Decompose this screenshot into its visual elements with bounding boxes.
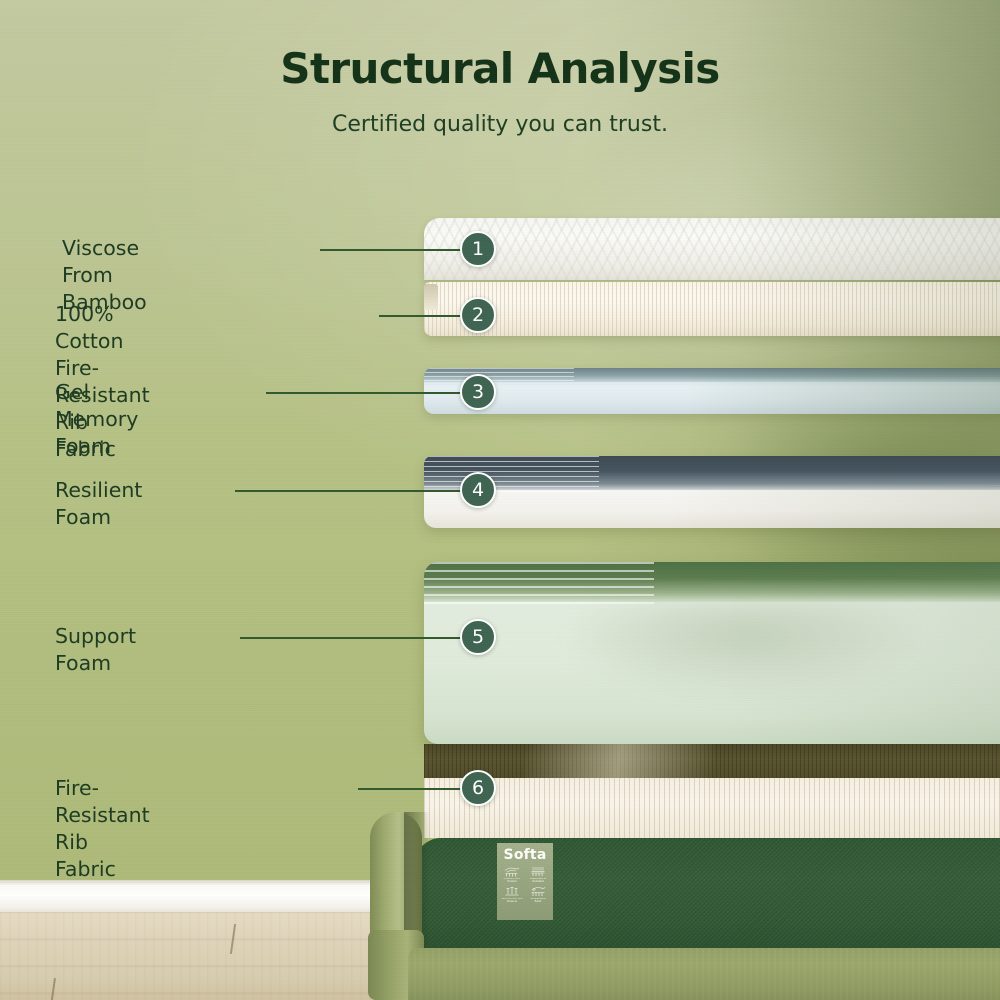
callout-label: Resilient Foam — [55, 477, 142, 531]
callout-leader-line — [235, 490, 467, 492]
band-highlight — [524, 744, 714, 778]
care-icon-cell: Temperature Relief — [526, 886, 550, 904]
mattress-layer-5-support-foam — [424, 562, 1000, 744]
product-infographic: Softa Moisture Wick Transfer Breat — [0, 0, 1000, 1000]
mattress-layer-6-fire-resistant-rib-fabric — [424, 778, 1000, 838]
bed-frame-rail — [408, 948, 1000, 1000]
layer-shading — [684, 368, 1000, 414]
layer-shading — [704, 282, 1000, 336]
layer-shading — [724, 562, 1000, 744]
mattress-dark-band — [424, 744, 1000, 778]
mattress-layer-3-gel-memory-foam — [424, 368, 1000, 414]
callout-label: Fire-Resistant Rib Fabric — [55, 775, 150, 883]
mattress-comfort-icon — [530, 886, 546, 897]
layer-shading — [724, 218, 1000, 280]
care-icon-cell: Even Lift and Soft Pressure — [500, 886, 524, 904]
callout-number-badge[interactable]: 4 — [460, 472, 496, 508]
callout-number-badge[interactable]: 6 — [460, 770, 496, 806]
brand-name: Softa — [504, 847, 547, 863]
care-icon-caption: Temperature Relief — [527, 898, 549, 904]
care-icon-caption: Moisture Wick Transfer — [501, 878, 523, 884]
care-icon-cell: Moisture Wick Transfer — [500, 866, 524, 884]
layer-corner-notch — [424, 284, 438, 310]
callout-number-badge[interactable]: 5 — [460, 619, 496, 655]
mattress-layer-2-cotton-rib-fabric — [424, 282, 1000, 336]
mattress-layer-1-viscose-bamboo — [424, 218, 1000, 280]
mattress-breathable-icon — [504, 866, 520, 877]
page-title: Structural Analysis — [0, 44, 1000, 93]
callout-leader-line — [358, 788, 467, 790]
care-icon-caption: Even Lift and Soft Pressure — [501, 898, 523, 904]
callout-label: Gel Memory Foam — [55, 379, 138, 460]
callout-number-badge[interactable]: 2 — [460, 297, 496, 333]
care-icon-grid: Moisture Wick Transfer Breathable & Vent… — [500, 866, 550, 904]
callout-leader-line — [240, 637, 467, 639]
floor-plank-seam — [230, 924, 236, 954]
product-brand-tag: Softa Moisture Wick Transfer Breat — [497, 843, 553, 920]
callout-leader-line — [266, 392, 467, 394]
callout-leader-line — [379, 315, 467, 317]
care-icon-caption: Breathable & Ventilated — [527, 878, 549, 884]
mattress-support-icon — [504, 886, 520, 897]
mattress-ventilation-icon — [530, 866, 546, 877]
page-subtitle: Certified quality you can trust. — [0, 112, 1000, 137]
layer-rib-texture — [424, 456, 599, 492]
layer-shading — [664, 486, 1000, 528]
callout-leader-line — [320, 249, 468, 251]
layer-rib-texture — [424, 368, 574, 384]
callout-number-badge[interactable]: 1 — [460, 231, 496, 267]
care-icon-cell: Breathable & Ventilated — [526, 866, 550, 884]
callout-label: Support Foam — [55, 623, 136, 677]
mattress-layer-4-resilient-foam — [424, 456, 1000, 528]
callout-number-badge[interactable]: 3 — [460, 374, 496, 410]
floor-plank-seam — [50, 978, 56, 1000]
